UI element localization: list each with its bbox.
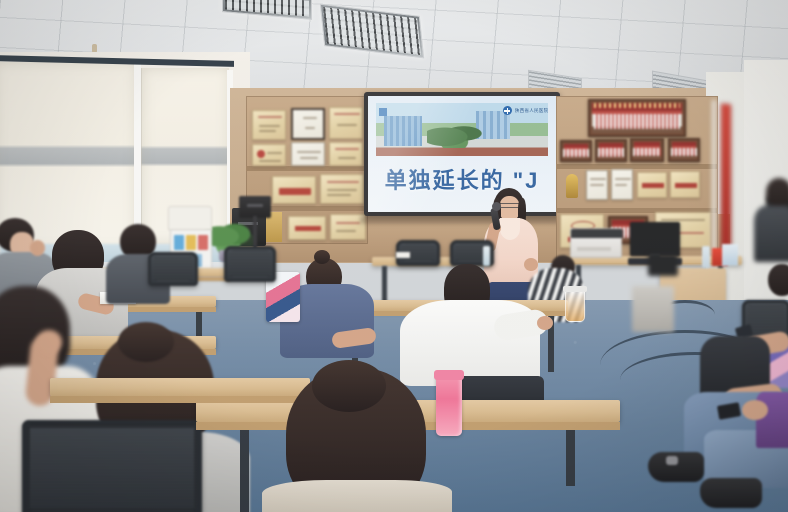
microphone-head xyxy=(492,202,501,211)
audio-speaker xyxy=(239,196,271,218)
certificate-plaque xyxy=(586,170,608,200)
glasses-icon xyxy=(499,203,520,208)
office-chair[interactable] xyxy=(22,420,202,512)
small-photo-frame xyxy=(668,138,700,162)
attendee-head xyxy=(768,264,788,296)
presenter-hand xyxy=(524,258,538,271)
attendee-hand xyxy=(537,316,553,330)
attendee-hand xyxy=(742,400,768,420)
desk-leg xyxy=(240,430,249,512)
pink-water-bottle xyxy=(436,374,462,436)
attendee-dark-top xyxy=(754,206,788,262)
certificate-plaque xyxy=(329,142,363,166)
cabinet-shelf xyxy=(246,166,368,171)
small-photo-frame xyxy=(560,140,592,162)
trophy-icon xyxy=(566,174,578,198)
group-photo-frame xyxy=(588,99,686,137)
water-bottle xyxy=(483,246,490,266)
sandal-buckle-icon xyxy=(666,456,678,465)
certificate-plaque xyxy=(670,171,700,198)
desk-edge xyxy=(50,396,310,403)
certificate-plaque xyxy=(252,110,286,140)
attendee-hand xyxy=(30,240,45,256)
office-chair[interactable] xyxy=(148,252,198,286)
certificate-plaque xyxy=(320,174,364,204)
certificate-plaque xyxy=(291,142,325,166)
attendee-head xyxy=(766,178,788,208)
attendee-hair-bun xyxy=(312,360,386,412)
paper-on-desk xyxy=(396,252,410,258)
red-banner xyxy=(721,104,731,253)
attendee-hair-bun xyxy=(118,322,174,362)
monitor xyxy=(648,254,678,276)
cabinet-shelf xyxy=(556,164,718,169)
supply-box xyxy=(722,244,738,266)
small-photo-frame xyxy=(595,139,627,162)
screen-glare xyxy=(368,96,556,212)
bottle-cap xyxy=(434,370,464,380)
banner-pole xyxy=(712,100,716,258)
front-desk xyxy=(50,378,310,396)
screen-wall-shadow xyxy=(360,216,564,224)
printer xyxy=(570,228,622,258)
iced-drink-cup xyxy=(565,290,585,322)
certificate-plaque xyxy=(272,176,316,204)
black-sandal xyxy=(700,478,762,508)
projection-screen: 陕西省人民医院 单独延长的 "J xyxy=(364,92,560,216)
photo-scene: 陕西省人民医院 单独延长的 "J xyxy=(0,0,788,512)
small-photo-frame xyxy=(630,138,664,162)
whiteboard-panel xyxy=(168,206,212,230)
projected-slide: 陕西省人民医院 单独延长的 "J xyxy=(368,96,556,212)
certificate-plaque xyxy=(252,144,286,166)
desk-leg xyxy=(566,430,575,486)
computer-monitor xyxy=(630,222,680,256)
group-photo-banner xyxy=(594,103,681,108)
water-bottle xyxy=(702,246,710,268)
certificate-plaque xyxy=(611,169,633,200)
certificate-plaque xyxy=(637,172,667,198)
blouse-collar xyxy=(500,218,520,240)
certificate-plaque xyxy=(291,108,325,140)
equipment-cart xyxy=(632,286,674,332)
attendee-tan-top xyxy=(262,480,452,512)
attendee-hand xyxy=(36,330,62,354)
cup-lid xyxy=(563,286,587,292)
office-chair[interactable] xyxy=(224,246,276,282)
certificate-plaque xyxy=(329,107,363,139)
attendee-hair-bun xyxy=(314,250,330,264)
certificate-plaque xyxy=(288,216,326,240)
